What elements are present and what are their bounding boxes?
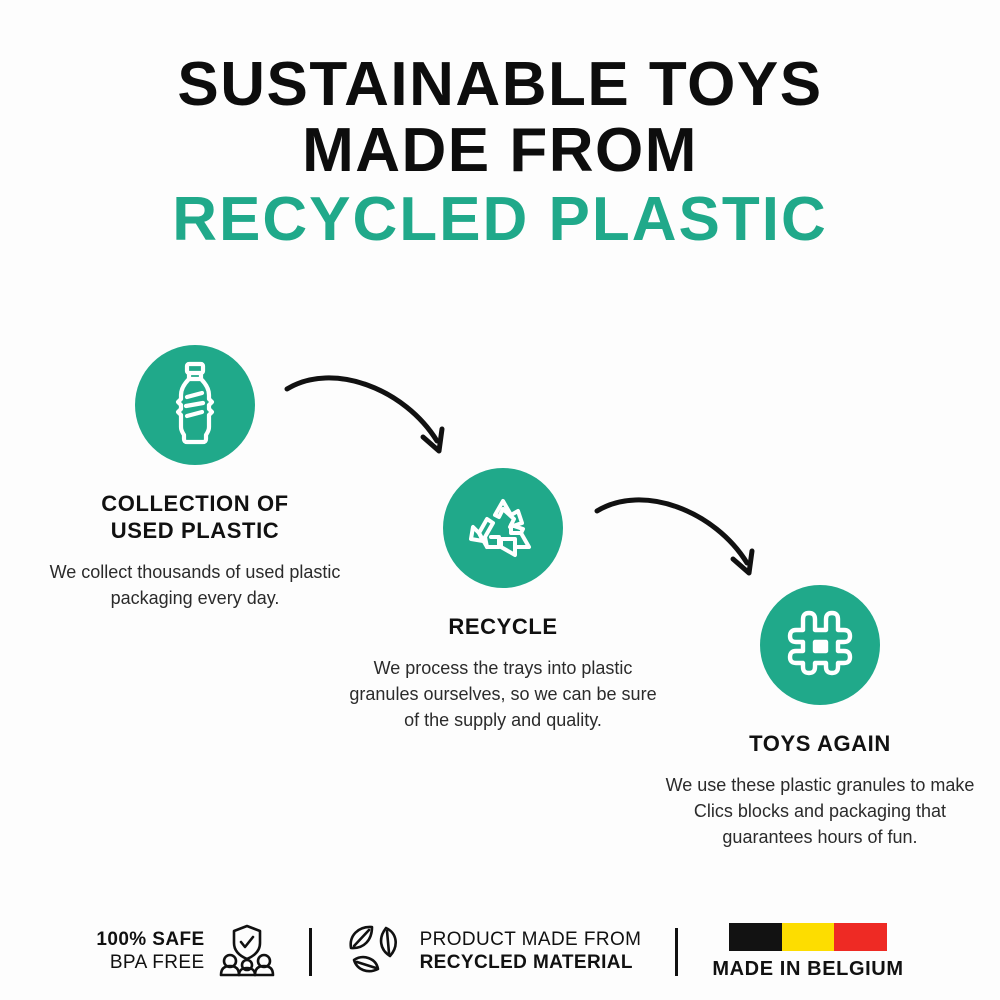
step-3-description: We use these plastic granules to make Cl…: [665, 772, 975, 850]
badge-recycled-material: PRODUCT MADE FROM RECYCLED MATERIAL: [346, 922, 642, 983]
step-recycle: RECYCLE We process the trays into plasti…: [348, 468, 658, 733]
step-3-title-line-1: TOYS AGAIN: [665, 731, 975, 758]
title-line-1: SUSTAINABLE TOYS: [0, 52, 1000, 118]
step-1-title-line-1: COLLECTION OF: [40, 491, 350, 518]
belgian-flag-icon: [729, 923, 887, 951]
step-2-icon-circle: [443, 468, 563, 588]
badge-safe-bpa-free: 100% SAFE BPA FREE: [96, 923, 274, 982]
infographic-canvas: SUSTAINABLE TOYS MADE FROM RECYCLED PLAS…: [0, 0, 1000, 1000]
leaves-icon: [346, 922, 404, 983]
badge-safe-line-2: BPA FREE: [110, 952, 205, 975]
step-1-title: COLLECTION OF USED PLASTIC: [40, 491, 350, 545]
step-2-description: We process the trays into plastic granul…: [348, 655, 658, 733]
step-collection-of-used-plastic: COLLECTION OF USED PLASTIC We collect th…: [40, 345, 350, 611]
flag-band-red: [834, 923, 887, 951]
step-1-icon-circle: [135, 345, 255, 465]
step-3-title: TOYS AGAIN: [665, 731, 975, 758]
footer-divider-2: [675, 928, 678, 976]
badge-safe-text: 100% SAFE BPA FREE: [96, 929, 204, 975]
badge-recycled-text: PRODUCT MADE FROM RECYCLED MATERIAL: [420, 929, 642, 975]
title-line-3-accent: RECYCLED PLASTIC: [0, 187, 1000, 253]
step-1-title-line-2: USED PLASTIC: [40, 518, 350, 545]
shield-people-icon: [219, 923, 275, 982]
page-title: SUSTAINABLE TOYS MADE FROM RECYCLED PLAS…: [0, 52, 1000, 253]
badge-made-in-belgium: MADE IN BELGIUM: [712, 923, 903, 981]
step-2-title: RECYCLE: [348, 614, 658, 641]
clics-block-icon: [781, 604, 859, 687]
step-toys-again: TOYS AGAIN We use these plastic granules…: [665, 585, 975, 850]
step-2-title-line-1: RECYCLE: [348, 614, 658, 641]
title-line-2: MADE FROM: [0, 118, 1000, 184]
recycle-icon: [465, 489, 541, 568]
flag-band-black: [729, 923, 782, 951]
belgium-label: MADE IN BELGIUM: [712, 958, 903, 981]
footer-divider-1: [309, 928, 312, 976]
badge-safe-line-1: 100% SAFE: [96, 929, 204, 952]
badge-recycled-line-1: PRODUCT MADE FROM: [420, 929, 642, 952]
step-1-description: We collect thousands of used plastic pac…: [40, 559, 350, 611]
plastic-bottle-icon: [162, 361, 228, 450]
footer-badges: 100% SAFE BPA FREE: [0, 904, 1000, 1000]
badge-recycled-line-2: RECYCLED MATERIAL: [420, 952, 633, 975]
step-3-icon-circle: [760, 585, 880, 705]
flag-band-yellow: [782, 923, 835, 951]
